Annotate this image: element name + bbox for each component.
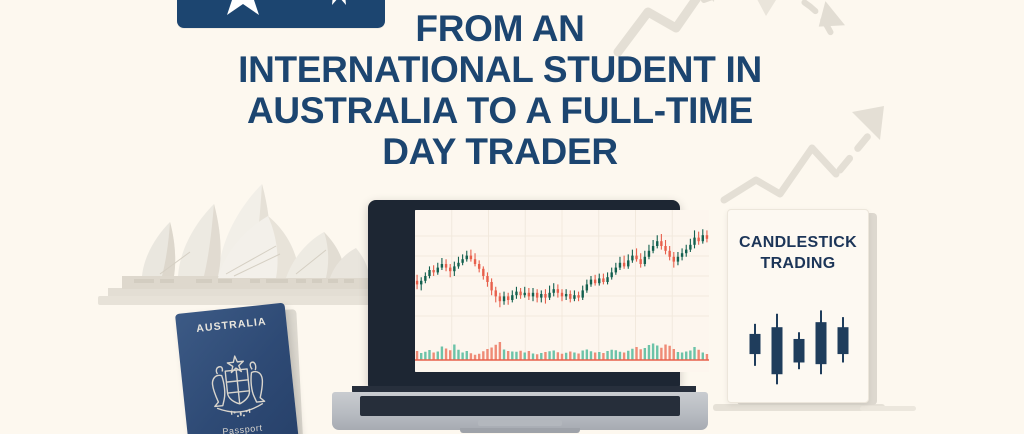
laptop-trackpad bbox=[478, 420, 562, 426]
laptop-screen bbox=[415, 210, 709, 372]
candlestick-trading-book: CANDLESTICK TRADING bbox=[727, 209, 875, 405]
book-title-line-1: CANDLESTICK bbox=[728, 232, 868, 253]
passport-country-label: AUSTRALIA bbox=[176, 314, 287, 337]
laptop-keyboard bbox=[360, 396, 680, 416]
book-title: CANDLESTICK TRADING bbox=[728, 232, 868, 274]
poster-canvas: FROM AN INTERNATIONAL STUDENT IN AUSTRAL… bbox=[0, 0, 1024, 434]
book-cover-candlestick-icon bbox=[744, 302, 854, 386]
book-front-cover: CANDLESTICK TRADING bbox=[727, 209, 869, 403]
title-line-3: AUSTRALIA TO A FULL-TIME bbox=[150, 90, 850, 131]
title-line-2: INTERNATIONAL STUDENT IN bbox=[150, 49, 850, 90]
book-shelf-shadow bbox=[860, 406, 916, 411]
coat-of-arms-icon bbox=[195, 348, 279, 422]
book-title-line-2: TRADING bbox=[728, 253, 868, 274]
title-line-4: DAY TRADER bbox=[150, 131, 850, 172]
title-line-1: FROM AN bbox=[150, 8, 850, 49]
laptop-illustration bbox=[330, 200, 710, 434]
laptop-foot bbox=[460, 428, 580, 433]
candlestick-chart bbox=[415, 210, 709, 372]
page-title: FROM AN INTERNATIONAL STUDENT IN AUSTRAL… bbox=[150, 8, 850, 172]
australian-passport: AUSTRALIA Pass bbox=[175, 303, 299, 434]
laptop-lid bbox=[368, 200, 680, 388]
